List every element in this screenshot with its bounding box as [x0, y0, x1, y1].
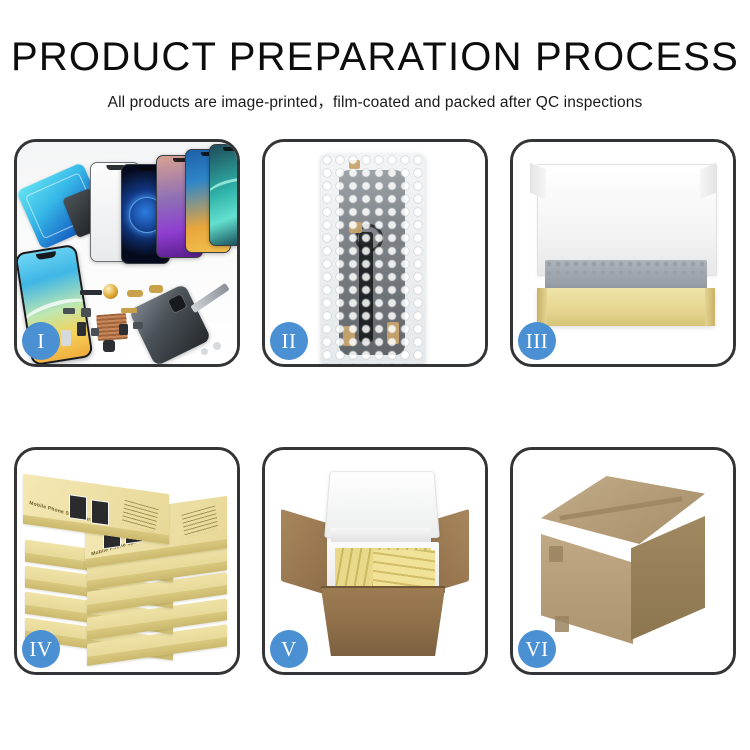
process-step-1[interactable]: I	[14, 139, 240, 367]
part-small-9-icon	[133, 322, 143, 329]
part-screw-2-icon	[201, 348, 208, 355]
tweezers-icon	[190, 283, 229, 313]
step-badge-4: IV	[22, 630, 60, 668]
header: PRODUCT PREPARATION PROCESS All products…	[0, 36, 750, 112]
carton-flap-left-icon	[281, 509, 327, 595]
part-small-3-icon	[91, 328, 99, 336]
carton-body-icon	[321, 588, 445, 656]
bubble-wrap-bag-icon	[321, 154, 425, 364]
part-small-5-icon	[61, 330, 71, 346]
kraft-box-body-icon	[537, 288, 715, 326]
step-badge-6: VI	[518, 630, 556, 668]
part-small-8-icon	[121, 308, 137, 313]
lid-flap-left-icon	[530, 163, 546, 199]
process-grid: I II	[14, 139, 736, 675]
part-strip-icon	[80, 290, 102, 295]
part-small-6-icon	[63, 308, 75, 314]
page-subtitle: All products are image-printed，film-coat…	[0, 90, 750, 112]
infographic-page: PRODUCT PREPARATION PROCESS All products…	[0, 0, 750, 750]
part-screw-icon	[213, 342, 221, 350]
part-small-1-icon	[81, 308, 91, 317]
part-small-2-icon	[77, 322, 86, 336]
step-badge-2: II	[270, 322, 308, 360]
step-badge-5: V	[270, 630, 308, 668]
phone-teal-icon	[209, 144, 237, 246]
process-step-2[interactable]: II	[262, 139, 488, 367]
process-step-5[interactable]: V	[262, 447, 488, 675]
carton-tab-bottom-icon	[555, 616, 569, 632]
carton-tab-top-icon	[549, 546, 563, 562]
process-step-4[interactable]: Mobile Phone Spare Parts Mobile Phone Sp…	[14, 447, 240, 675]
process-step-6[interactable]: VI	[510, 447, 736, 675]
part-small-4-icon	[103, 340, 115, 352]
part-small-7-icon	[119, 324, 128, 335]
stack-box-top-left: Mobile Phone Spare Parts	[23, 474, 169, 545]
gold-coil-icon	[103, 284, 118, 299]
step-badge-3: III	[518, 322, 556, 360]
step-badge-1: I	[22, 322, 60, 360]
process-step-3[interactable]: III	[510, 139, 736, 367]
page-title: PRODUCT PREPARATION PROCESS	[0, 36, 750, 78]
part-gold-icon	[127, 290, 143, 297]
bubble-texture-icon	[321, 154, 425, 364]
packed-boxes-2-icon	[373, 550, 435, 588]
part-gold-2-icon	[149, 285, 163, 293]
